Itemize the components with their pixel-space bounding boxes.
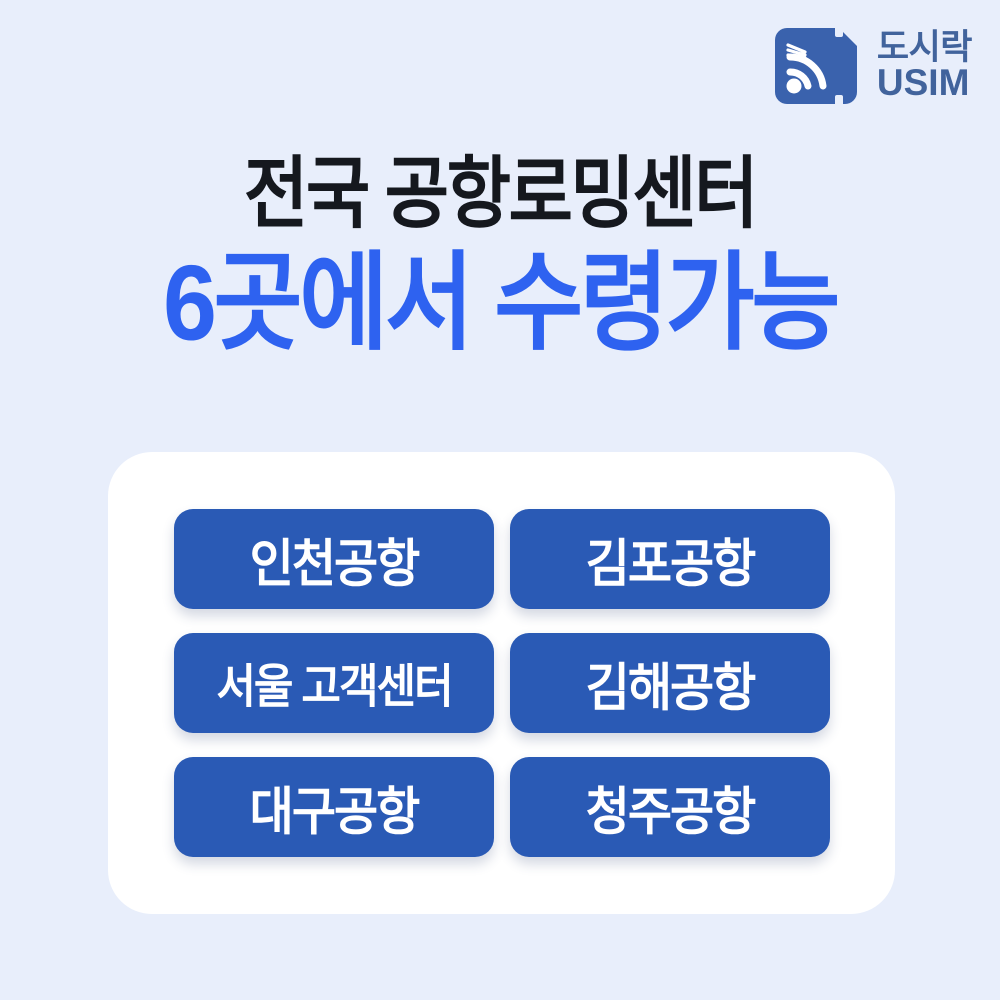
location-button-grid: 인천공항 김포공항 서울 고객센터 김해공항 대구공항 청주공항: [174, 509, 830, 857]
brand-wordmark: 도시락 USIM: [877, 31, 972, 102]
location-button-gimhae-airport[interactable]: 김해공항: [510, 633, 830, 733]
location-button-label: 김포공항: [586, 521, 755, 597]
promo-poster: 도시락 USIM 전국 공항로밍센터 6곳에서 수령가능 인천공항 김포공항 서…: [0, 0, 1000, 1000]
brand-name-kr: 도시락: [877, 31, 972, 65]
location-button-label: 청주공항: [586, 769, 755, 845]
headline-line-1: 전국 공항로밍센터: [0, 150, 1000, 238]
brand-name-en: USIM: [877, 65, 970, 101]
location-button-label: 서울 고객센터: [216, 650, 451, 717]
location-button-label: 김해공항: [586, 645, 755, 721]
location-button-daegu-airport[interactable]: 대구공항: [174, 757, 494, 857]
location-button-cheongju-airport[interactable]: 청주공항: [510, 757, 830, 857]
locations-card: 인천공항 김포공항 서울 고객센터 김해공항 대구공항 청주공항: [108, 452, 895, 914]
location-button-seoul-customer-center[interactable]: 서울 고객센터: [174, 633, 494, 733]
sim-card-fork-wifi-icon: [775, 28, 863, 104]
headline-line-2: 6곳에서 수령가능: [0, 246, 1000, 361]
location-button-label: 대구공항: [250, 769, 419, 845]
location-button-gimpo-airport[interactable]: 김포공항: [510, 509, 830, 609]
location-button-incheon-airport[interactable]: 인천공항: [174, 509, 494, 609]
headline-group: 전국 공항로밍센터 6곳에서 수령가능: [0, 150, 1000, 351]
brand-logo[interactable]: 도시락 USIM: [775, 28, 972, 104]
location-button-label: 인천공항: [250, 521, 419, 597]
